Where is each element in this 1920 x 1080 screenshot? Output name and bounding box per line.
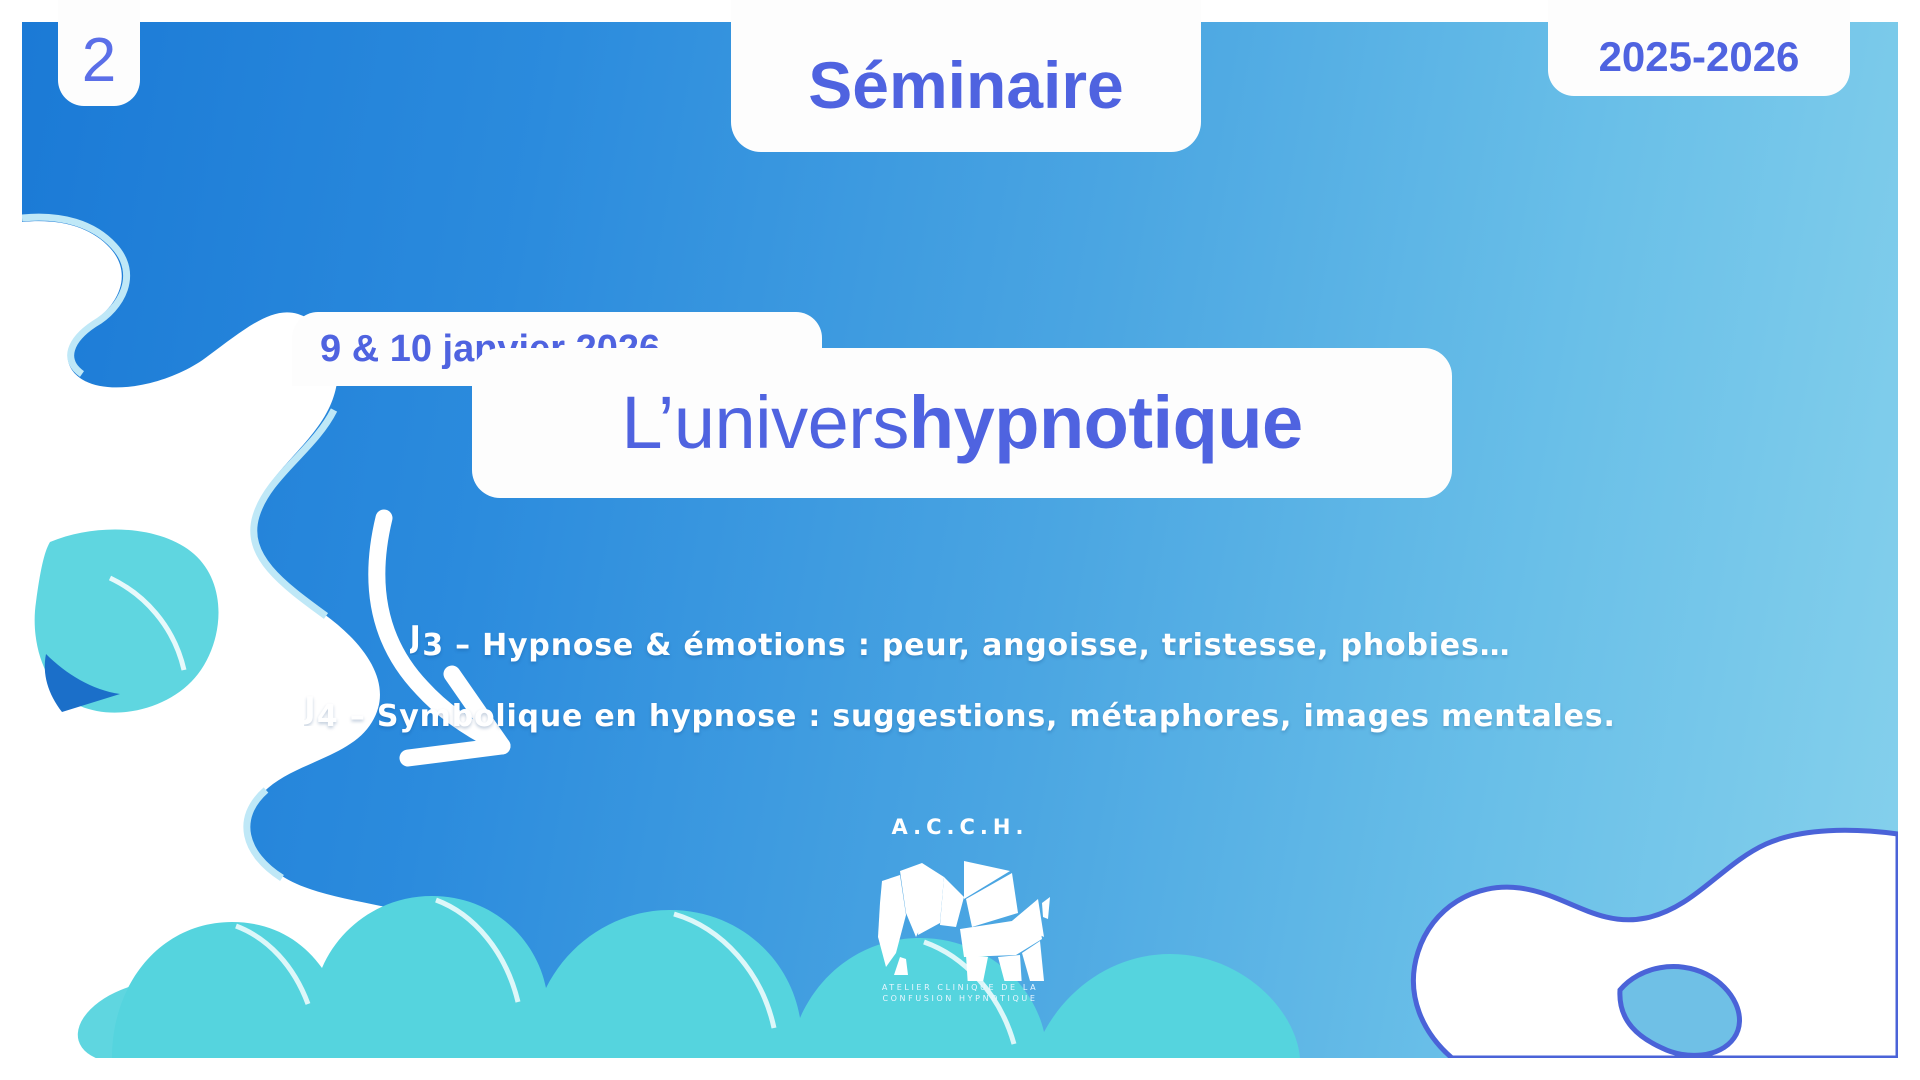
slide-number-badge: 2 bbox=[58, 0, 140, 106]
seminar-title-thin: L’univers bbox=[621, 386, 909, 460]
logo-subtitle: ATELIER CLINIQUE DE LA CONFUSION HYPNOTI… bbox=[860, 983, 1060, 1005]
program-line-text: 3 – Hypnose & émotions : peur, angoisse,… bbox=[422, 628, 1510, 663]
origami-elephant-icon bbox=[860, 841, 1060, 981]
program-line: J3 – Hypnose & émotions : peur, angoisse… bbox=[0, 620, 1920, 663]
logo-subtitle-line-2: CONFUSION HYPNOTIQUE bbox=[860, 994, 1060, 1005]
logo-acronym: A.C.C.H. bbox=[860, 815, 1060, 839]
program-line-day-prefix: J bbox=[304, 691, 317, 726]
program-line: J4 – Symbolique en hypnose : suggestions… bbox=[0, 691, 1920, 734]
seminar-title-bold: hypnotique bbox=[909, 386, 1303, 460]
logo-subtitle-line-1: ATELIER CLINIQUE DE LA bbox=[860, 983, 1060, 994]
acch-logo: A.C.C.H. bbox=[860, 815, 1060, 1005]
program-line-day-prefix: J bbox=[410, 620, 423, 655]
slide-root: 2 Séminaire 2025-2026 9 & 10 janvier 202… bbox=[0, 0, 1920, 1080]
program-lines: J3 – Hypnose & émotions : peur, angoisse… bbox=[0, 620, 1920, 762]
seminar-title-card: L’univers hypnotique bbox=[472, 348, 1452, 498]
season-year-badge: 2025-2026 bbox=[1548, 0, 1850, 96]
page-title: Séminaire bbox=[731, 0, 1201, 152]
program-line-text: 4 – Symbolique en hypnose : suggestions,… bbox=[317, 699, 1616, 734]
